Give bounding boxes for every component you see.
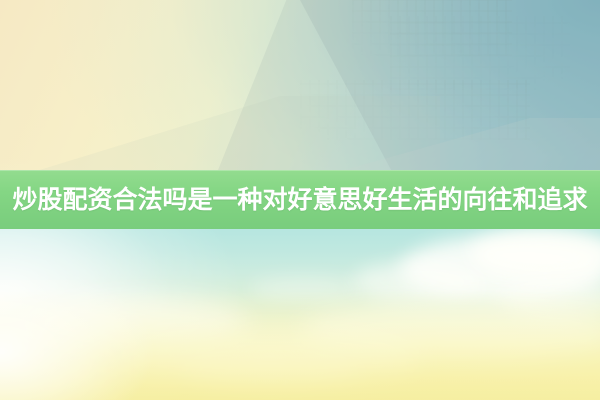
building-grid-texture [390, 16, 570, 90]
poster-image: 炒股配资合法吗是一种对好意思好生活的向往和追求 [0, 0, 600, 400]
caption-text: 炒股配资合法吗是一种对好意思好生活的向往和追求 [12, 187, 587, 212]
sky-corner-highlight [0, 280, 200, 400]
caption-band: 炒股配资合法吗是一种对好意思好生活的向往和追求 [0, 170, 600, 229]
building-grid-texture [300, 80, 530, 140]
